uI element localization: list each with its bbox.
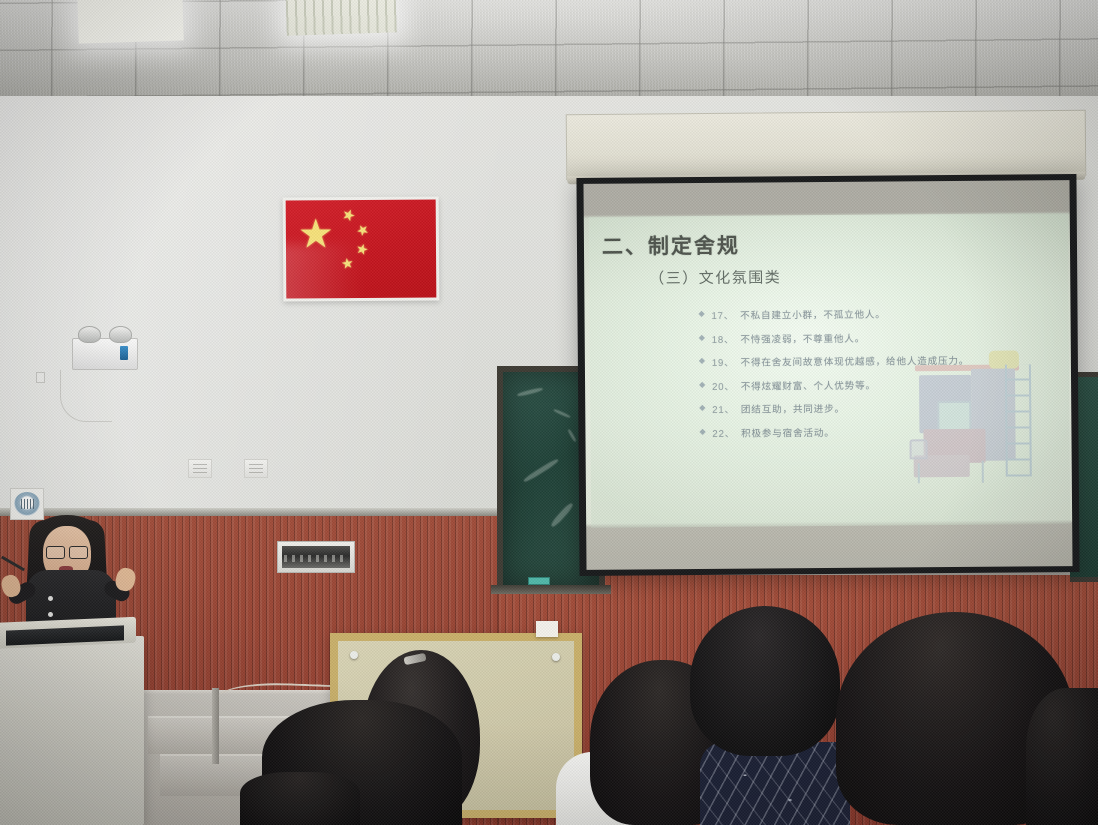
- ceiling-light-panel: [285, 0, 397, 36]
- flag-frame: ★ ★ ★ ★ ★: [283, 196, 440, 301]
- diamond-bullet-icon: ◆: [699, 355, 706, 367]
- power-cord: [60, 370, 112, 422]
- flag-star-large: ★: [298, 214, 334, 254]
- chalk-mark: [553, 408, 571, 418]
- chalk-mark: [550, 502, 575, 528]
- ceiling-light-panel: [77, 0, 184, 44]
- bullet-text: 团结互助，共同进步。: [741, 401, 845, 416]
- bullet-text: 积极参与宿舍活动。: [741, 425, 835, 440]
- bullet-text: 不私自建立小群，不孤立他人。: [740, 307, 886, 322]
- flag-star-small: ★: [354, 221, 373, 240]
- speaker-glasses-icon: [46, 546, 88, 557]
- slide-subtitle: （三）文化氛围类: [649, 264, 1052, 288]
- flag-star-small: ★: [354, 241, 370, 258]
- posted-note: [536, 621, 558, 637]
- projection-screen-housing: [566, 110, 1087, 181]
- bullet-number: 22、: [712, 425, 735, 439]
- bunk-window: [937, 400, 971, 430]
- classroom-scene: ★ ★ ★ ★ ★ 二、制定舍规: [0, 0, 1098, 825]
- shirt-button: [48, 596, 53, 601]
- emergency-light-indicator: [120, 346, 128, 360]
- bullet-number: 18、: [712, 331, 735, 345]
- lectern: [0, 636, 144, 825]
- blackboard-eraser: [528, 577, 550, 585]
- diamond-bullet-icon: ◆: [699, 402, 706, 414]
- flag-star-small: ★: [339, 206, 357, 225]
- bunk-ladder: [1005, 364, 1032, 476]
- chalk-mark: [567, 429, 577, 443]
- bullet-number: 19、: [712, 355, 735, 369]
- student-head: [690, 606, 840, 756]
- light-diffuser-ribs: [285, 0, 397, 36]
- bullet-text: 不恃强凌弱，不尊重他人。: [740, 330, 865, 345]
- slide-bullet-item: ◆ 17、 不私自建立小群，不孤立他人。: [698, 305, 1052, 322]
- diamond-bullet-icon: ◆: [699, 426, 706, 438]
- bunk-leg: [918, 463, 920, 483]
- wall-socket-small: [36, 372, 45, 383]
- diamond-bullet-icon: ◆: [699, 379, 706, 391]
- panel-breaker-face: [282, 546, 350, 568]
- bullet-text: 不得炫耀财富、个人优势等。: [741, 377, 876, 392]
- projection-screen: 二、制定舍规 （三）文化氛围类 ◆ 17、 不私自建立小群，不孤立他人。 ◆ 1…: [576, 174, 1079, 576]
- bullet-number: 17、: [711, 308, 734, 322]
- chinese-national-flag: ★ ★ ★ ★ ★: [286, 199, 437, 298]
- wall-outlet: [188, 459, 212, 478]
- wall-emblem-sign: [10, 488, 44, 520]
- emergency-lamp-right: [109, 326, 132, 343]
- wall-emblem-graphic: [14, 492, 40, 516]
- bunk-leg: [982, 460, 984, 482]
- projection-screen-surface: 二、制定舍规 （三）文化氛围类 ◆ 17、 不私自建立小群，不孤立他人。 ◆ 1…: [583, 180, 1072, 570]
- push-pin: [350, 651, 358, 659]
- emergency-light-icon: [72, 338, 138, 370]
- wall-outlet: [244, 459, 268, 478]
- emergency-lamp-left: [78, 326, 101, 343]
- chalk-mark: [523, 458, 560, 483]
- electrical-distribution-panel: [277, 541, 355, 573]
- chalk-tray: [491, 585, 611, 594]
- ceiling-tiles: [0, 0, 1098, 108]
- shirt-button: [48, 612, 53, 617]
- push-pin: [552, 653, 560, 661]
- student-head: [240, 772, 360, 825]
- student-head: [1026, 688, 1098, 825]
- presentation-slide: 二、制定舍规 （三）文化氛围类 ◆ 17、 不私自建立小群，不孤立他人。 ◆ 1…: [584, 213, 1072, 527]
- bunk-bed-illustration: [907, 342, 1036, 483]
- chalk-mark: [517, 387, 543, 397]
- bullet-number: 20、: [712, 378, 735, 392]
- flag-star-small: ★: [340, 255, 354, 271]
- bullet-number: 21、: [712, 402, 735, 416]
- diamond-bullet-icon: ◆: [699, 332, 706, 344]
- bunk-chair: [910, 439, 928, 459]
- slide-title: 二、制定舍规: [602, 227, 1052, 261]
- diamond-bullet-icon: ◆: [698, 308, 705, 320]
